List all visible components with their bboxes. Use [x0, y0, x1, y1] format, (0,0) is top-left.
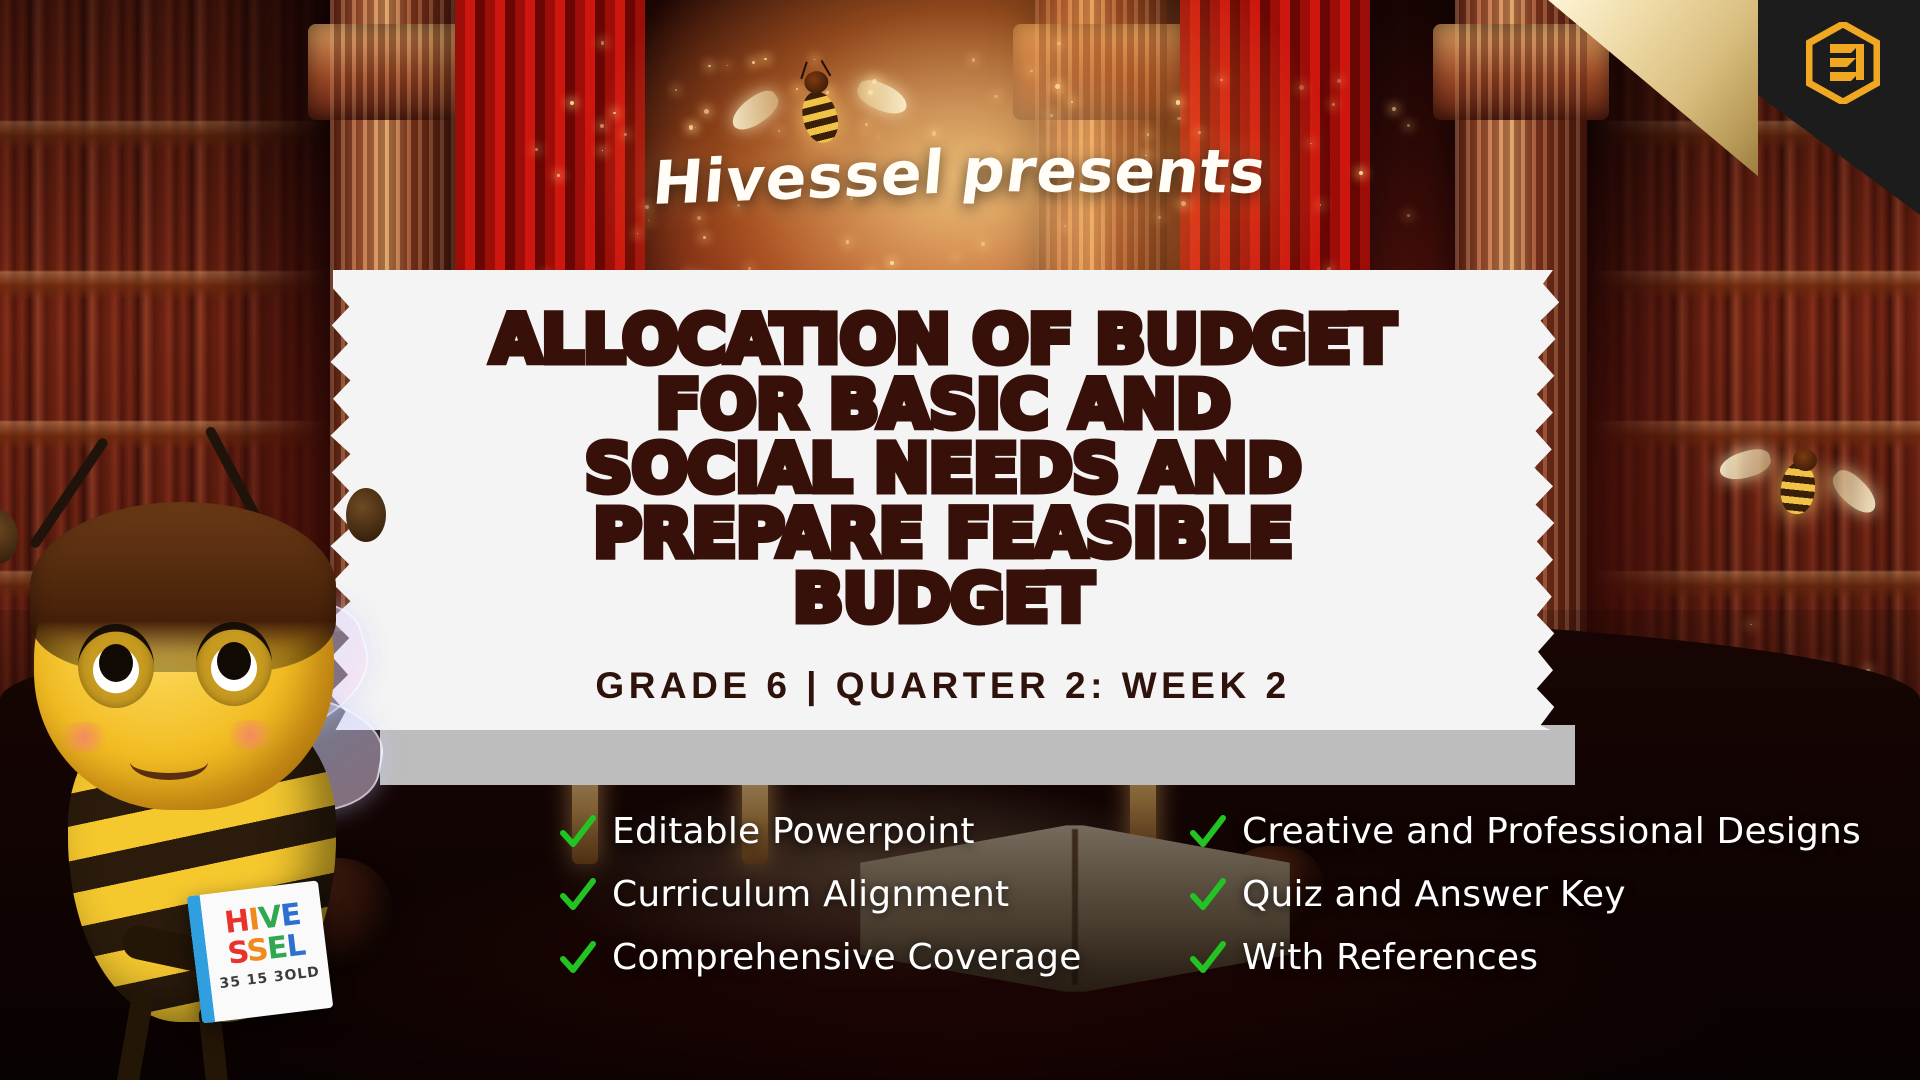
feature-label: Comprehensive Coverage — [612, 937, 1082, 978]
slide-canvas: Hivesselpresents ALLOCATION OF BUDGET FO… — [0, 0, 1920, 1080]
bee-head — [803, 70, 829, 94]
feature-label: With References — [1242, 937, 1538, 978]
title-line: ALLOCATION OF BUDGET — [491, 308, 1395, 373]
title-line: SOCIAL NEEDS AND — [491, 437, 1395, 502]
feature-item: With References — [1190, 926, 1890, 989]
green-check-icon — [1190, 814, 1226, 850]
feature-item: Curriculum Alignment — [560, 863, 1180, 926]
mascot-antenna-tip-left — [0, 510, 18, 564]
hexagon-es-logo-icon[interactable] — [1806, 22, 1880, 104]
mascot-smile — [130, 744, 208, 780]
green-check-icon — [560, 940, 596, 976]
mascot-eye-left — [78, 624, 154, 708]
mascot-blush-left — [56, 722, 112, 752]
feature-item: Creative and Professional Designs — [1190, 800, 1890, 863]
title-line: PREPARE FEASIBLE — [491, 502, 1395, 567]
bee-mascot: HIVE SSEL 35 15 3OLD — [0, 392, 492, 1080]
title-card: ALLOCATION OF BUDGET FOR BASIC AND SOCIA… — [318, 270, 1568, 730]
brand-word: Hivessel — [650, 138, 948, 219]
feature-list: Editable Powerpoint Creative and Profess… — [560, 800, 1890, 1010]
feature-label: Quiz and Answer Key — [1242, 874, 1626, 915]
mascot-antenna-tip-right — [346, 488, 386, 542]
mascot-blush-right — [222, 720, 278, 750]
green-check-icon — [560, 814, 596, 850]
mascot-hair — [30, 502, 336, 672]
feature-item: Quiz and Answer Key — [1190, 863, 1890, 926]
book-letter: L — [285, 928, 307, 965]
feature-label: Creative and Professional Designs — [1242, 811, 1861, 852]
green-check-icon — [560, 877, 596, 913]
feature-label: Curriculum Alignment — [612, 874, 1009, 915]
mascot-book: HIVE SSEL 35 15 3OLD — [187, 880, 334, 1023]
title-line: FOR BASIC AND — [491, 373, 1395, 438]
feature-item: Comprehensive Coverage — [560, 926, 1180, 989]
column-capital-right — [1433, 24, 1609, 120]
grey-band — [380, 725, 1575, 785]
green-check-icon — [1190, 877, 1226, 913]
mascot-eye-right — [196, 622, 272, 706]
feature-item: Editable Powerpoint — [560, 800, 1180, 863]
presents-word: presents — [958, 136, 1271, 208]
title-line: BUDGET — [491, 567, 1395, 632]
bee-body — [797, 88, 843, 147]
feature-label: Editable Powerpoint — [612, 811, 975, 852]
green-check-icon — [1190, 940, 1226, 976]
page-title: ALLOCATION OF BUDGET FOR BASIC AND SOCIA… — [491, 308, 1395, 631]
mascot-leg-left — [112, 991, 155, 1080]
grade-quarter-subtitle: GRADE 6 | QUARTER 2: WEEK 2 — [595, 665, 1290, 707]
